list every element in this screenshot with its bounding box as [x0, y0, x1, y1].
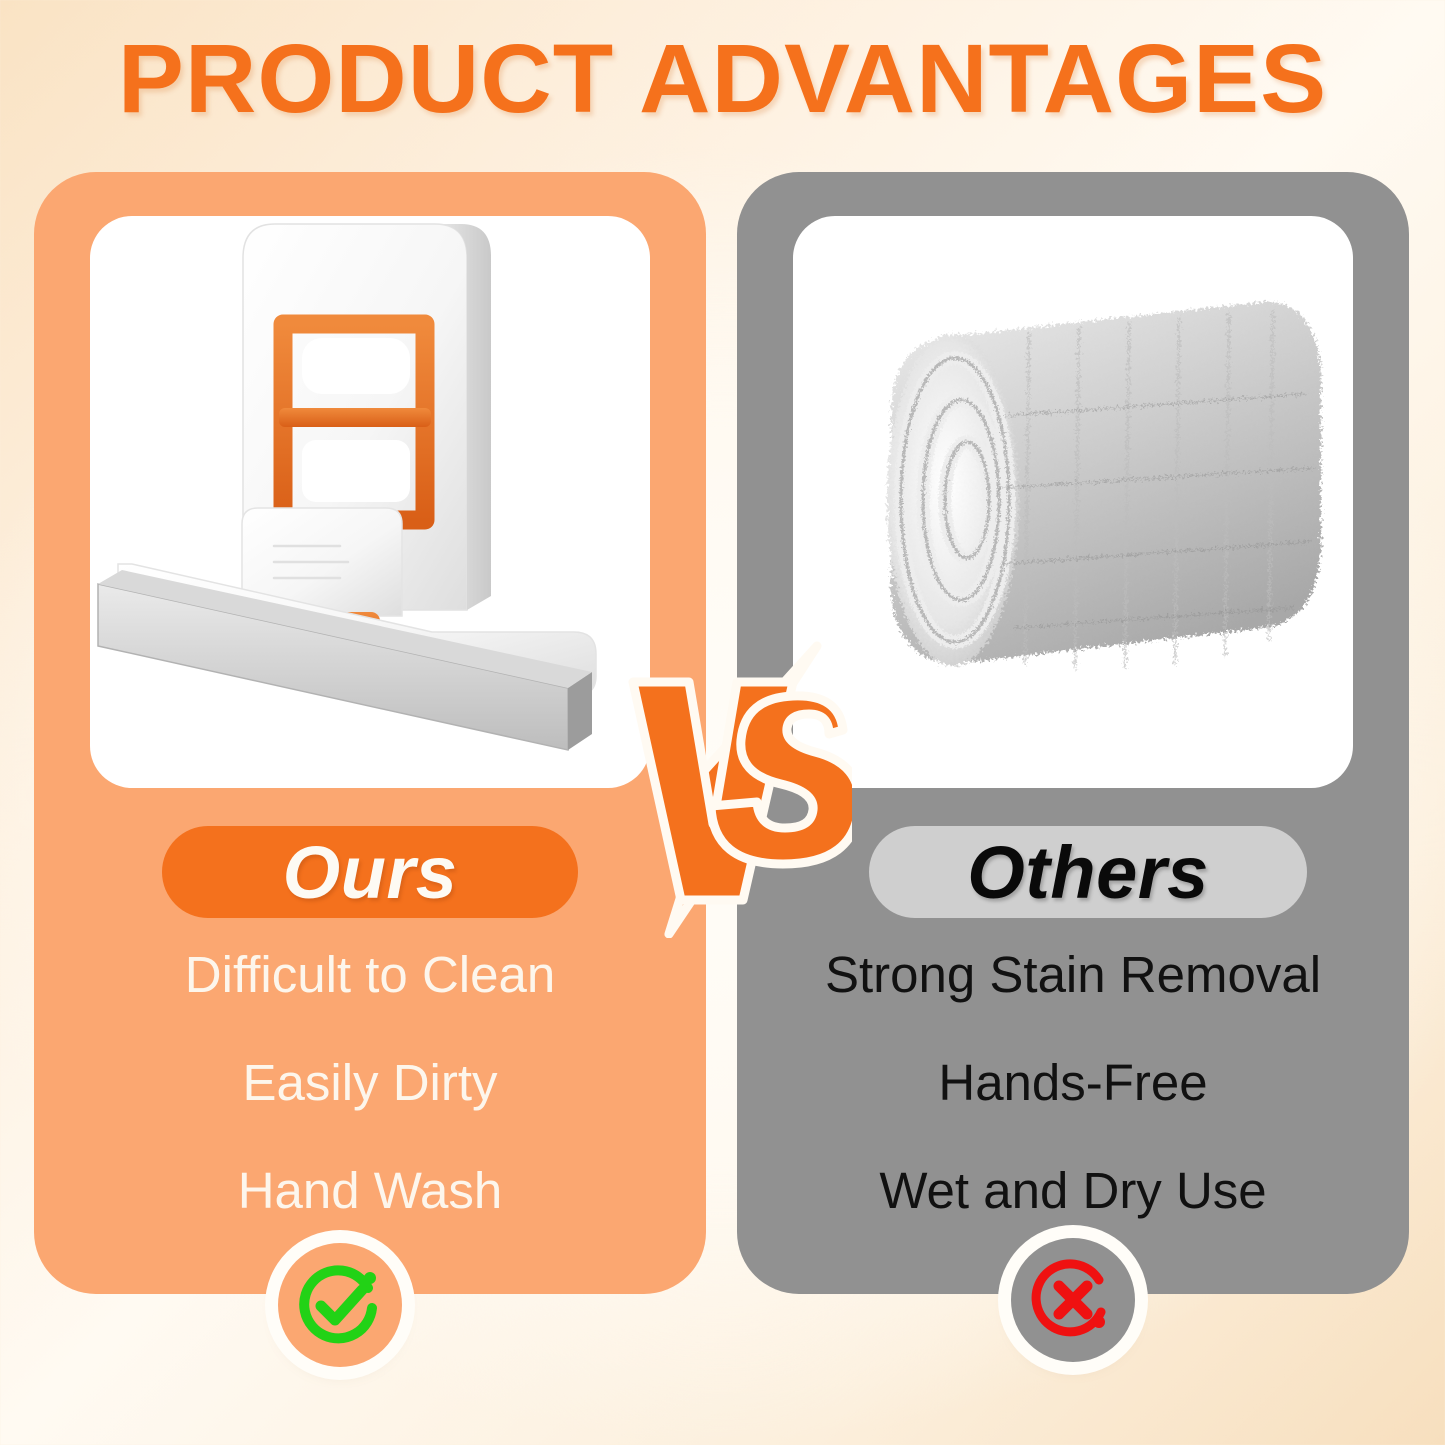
feature-item: Difficult to Clean: [56, 947, 684, 1003]
status-badge-ours: [278, 1243, 402, 1367]
check-circle-icon: [290, 1255, 390, 1355]
feature-item: Easily Dirty: [56, 1055, 684, 1111]
panel-label-ours: Ours: [162, 826, 578, 918]
x-circle-icon: [1023, 1250, 1123, 1350]
feature-item: Hand Wash: [56, 1163, 684, 1219]
product-image-ours: [90, 216, 650, 788]
product-image-others: [793, 216, 1353, 788]
status-badge-others: [1011, 1238, 1135, 1362]
feature-item: Strong Stain Removal: [759, 947, 1387, 1003]
feature-list-ours: Difficult to Clean Easily Dirty Hand Was…: [56, 947, 684, 1219]
feature-list-others: Strong Stain Removal Hands-Free Wet and …: [759, 947, 1387, 1219]
vs-badge: [617, 638, 852, 938]
feature-item: Wet and Dry Use: [759, 1163, 1387, 1219]
infographic-canvas: PRODUCT ADVANTAGES: [0, 0, 1445, 1445]
rolled-microfiber-towel-illustration: [793, 216, 1353, 788]
comparison-panel-ours: Ours Difficult to Clean Easily Dirty Han…: [34, 172, 706, 1294]
panel-label-others: Others: [869, 826, 1307, 918]
folding-squeegee-mop-illustration: [90, 216, 650, 788]
vs-lightning-icon: [617, 638, 852, 938]
page-title: PRODUCT ADVANTAGES: [0, 28, 1445, 130]
feature-item: Hands-Free: [759, 1055, 1387, 1111]
